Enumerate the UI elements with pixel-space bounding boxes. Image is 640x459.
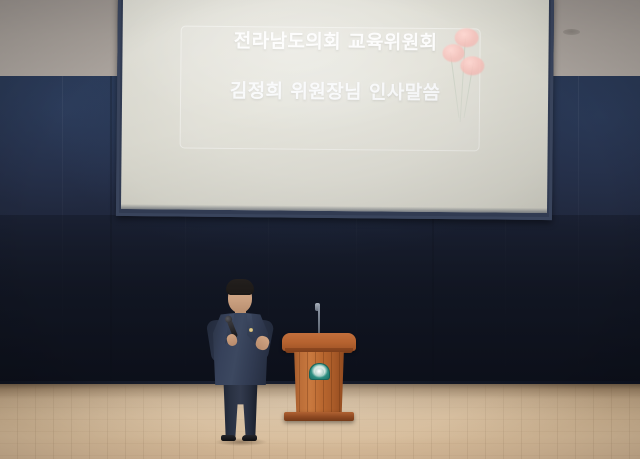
podium-body — [292, 352, 346, 414]
speaking-presenter — [197, 276, 283, 446]
wooden-podium — [279, 306, 359, 422]
scene-photograph: 전라남도의회 교육위원회 김정희 위원장님 인사말씀 — [0, 0, 640, 459]
presenter-lapel-pin-icon — [249, 328, 253, 332]
projection-screen: 전라남도의회 교육위원회 김정희 위원장님 인사말씀 — [116, 0, 554, 220]
podium-microphone-stem — [318, 306, 320, 334]
presenter-left-shoe — [221, 435, 236, 441]
presenter-glasses-icon — [229, 292, 251, 298]
screen-surface: 전라남도의회 교육위원회 김정희 위원장님 인사말씀 — [121, 0, 549, 213]
carnation-flowers-icon — [434, 22, 495, 133]
podium-base — [284, 412, 354, 421]
presenter-trousers — [222, 380, 259, 438]
institution-emblem-icon — [309, 363, 330, 380]
presenter-right-shoe — [242, 435, 257, 441]
recessed-ceiling-light-icon — [563, 29, 580, 35]
